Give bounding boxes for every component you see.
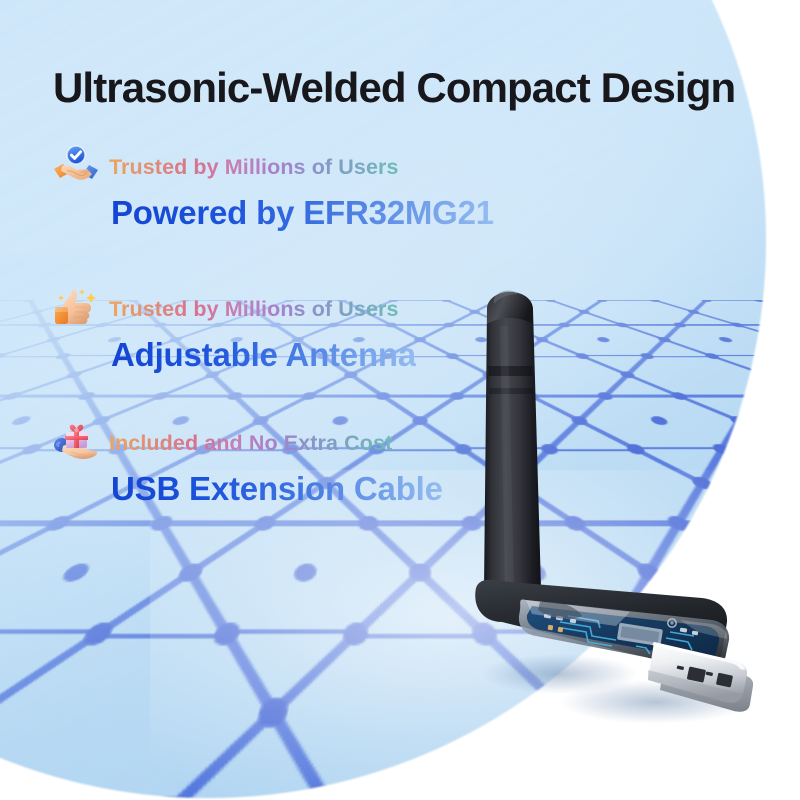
feature-headline: Adjustable Antenna (111, 336, 416, 374)
antenna (484, 291, 541, 603)
feature-headline: USB Extension Cable (111, 470, 443, 508)
feature-subtitle: Trusted by Millions of Users (109, 155, 399, 180)
product-feature-banner: Ultrasonic-Welded Compact Design (0, 0, 800, 800)
gift-in-hand-icon (53, 421, 99, 465)
feature-item: Trusted by Millions of Users Adjustable … (53, 288, 416, 374)
feature-headline: Powered by EFR32MG21 (111, 194, 494, 232)
feature-subtitle: Trusted by Millions of Users (109, 297, 399, 322)
usb-wifi-adapter (440, 270, 770, 740)
page-title: Ultrasonic-Welded Compact Design (53, 64, 773, 112)
feature-subtitle: Included and No Extra Cost (109, 431, 392, 456)
feature-item: Included and No Extra Cost USB Extension… (53, 422, 443, 508)
thumbs-up-sparkle-icon (53, 287, 99, 331)
handshake-check-icon (53, 145, 99, 189)
feature-item: Trusted by Millions of Users Powered by … (53, 146, 494, 232)
